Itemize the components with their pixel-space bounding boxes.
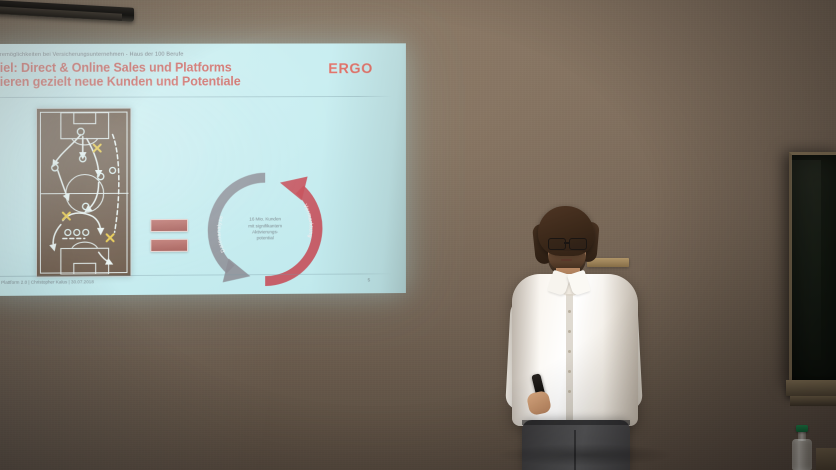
scene-vignette xyxy=(0,0,836,470)
lecture-room-scene: Karrieremöglichkeiten bei Versicherungsu… xyxy=(0,0,836,470)
